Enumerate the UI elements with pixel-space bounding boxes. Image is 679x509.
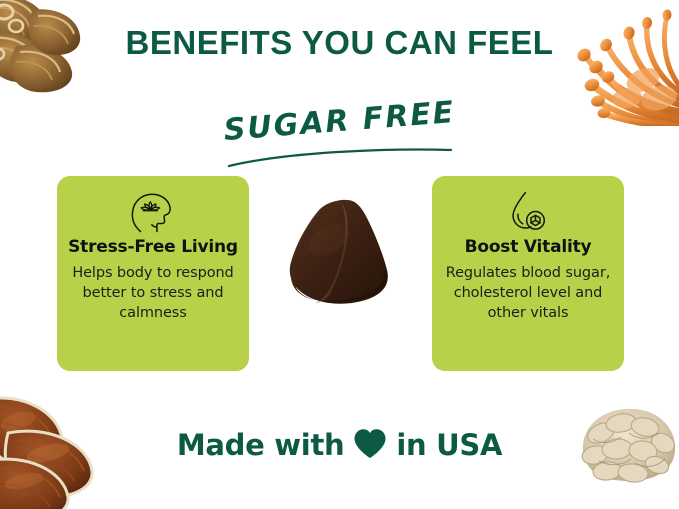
gummy-icon — [277, 196, 401, 312]
benefit-card-body: Regulates blood sugar, cholesterol level… — [442, 263, 614, 323]
benefit-card-body: Helps body to respond better to stress a… — [67, 263, 239, 323]
sugar-free-badge: SUGAR FREE — [0, 104, 679, 170]
benefit-card-stress-free: Stress-Free Living Helps body to respond… — [57, 176, 249, 371]
blood-drop-glucose-icon — [442, 188, 614, 236]
benefits-poster: BENEFITS YOU CAN FEEL SUGAR FREE — [0, 0, 679, 509]
page-title: BENEFITS YOU CAN FEEL — [0, 24, 679, 62]
benefit-card-boost-vitality: Boost Vitality Regulates blood sugar, ch… — [432, 176, 624, 371]
made-with-love-banner: Made within USA — [0, 426, 679, 462]
benefit-card-title: Stress-Free Living — [67, 238, 239, 258]
head-lotus-icon — [67, 188, 239, 236]
made-with-suffix: in USA — [396, 428, 502, 462]
made-with-prefix: Made with — [177, 428, 345, 462]
benefit-card-title: Boost Vitality — [442, 238, 614, 258]
sugar-free-underline — [227, 148, 453, 168]
heart-icon — [353, 428, 387, 459]
